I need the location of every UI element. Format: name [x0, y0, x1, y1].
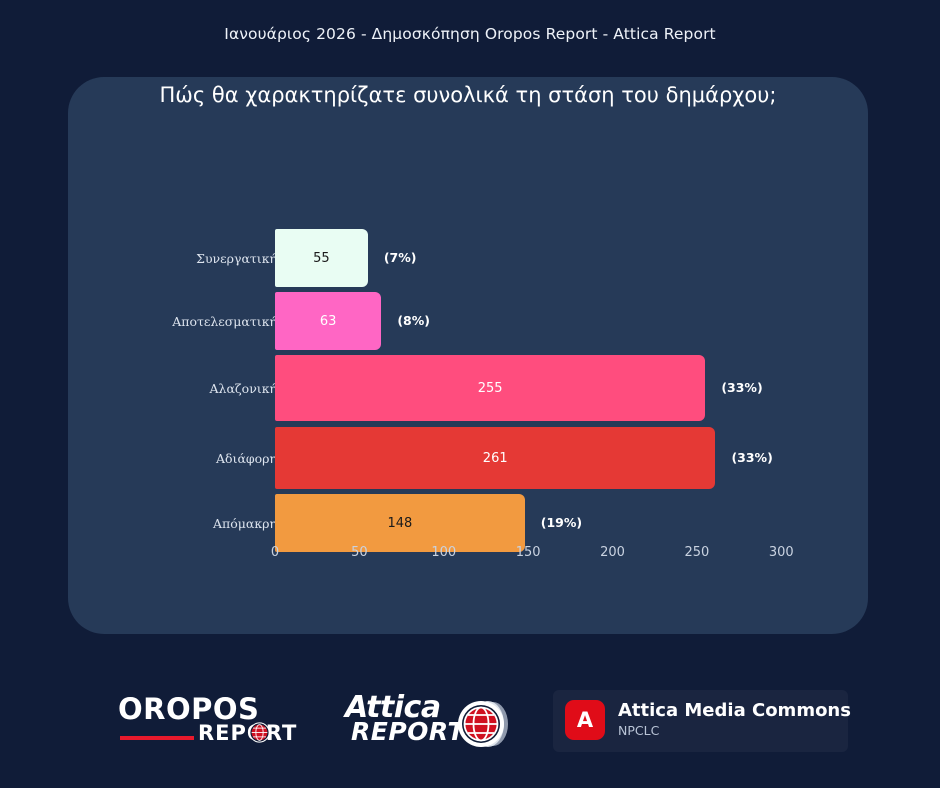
bar-value-label: 63	[320, 314, 337, 329]
footer-logo-bar: OROPOS REPORT Attica REPORT	[0, 672, 940, 782]
bar-percent-label: (19%)	[541, 515, 582, 530]
globe-icon	[457, 700, 509, 748]
x-axis-tick: 300	[769, 545, 794, 560]
amc-title: Attica Media Commons	[618, 700, 851, 721]
bar-value-label: 148	[387, 516, 412, 531]
oropos-report-logo: OROPOS REPORT	[118, 694, 278, 752]
x-axis-tick: 0	[271, 545, 279, 560]
x-axis-tick: 150	[516, 545, 541, 560]
amc-subtitle: NPCLC	[618, 723, 659, 738]
bar-row: Συνεργατική55(7%)	[68, 229, 868, 287]
bar-category-label: Αλαζονική	[210, 381, 278, 396]
x-axis-tick: 200	[600, 545, 625, 560]
bar-row: Απόμακρη148(19%)	[68, 494, 868, 552]
amc-badge-icon: A	[565, 700, 605, 740]
oropos-red-rule	[120, 736, 194, 740]
bar-percent-label: (33%)	[721, 380, 762, 395]
attica-report-logo: Attica REPORT	[345, 692, 520, 754]
bar-percent-label: (8%)	[397, 313, 430, 328]
bar[interactable]: 261	[275, 427, 715, 489]
poll-header-title: Ιανουάριος 2026 - Δημοσκόπηση Oropos Rep…	[224, 25, 715, 43]
x-axis-tick: 50	[351, 545, 368, 560]
globe-icon	[249, 722, 270, 743]
bar-percent-label: (33%)	[731, 450, 772, 465]
bar-percent-label: (7%)	[384, 250, 417, 265]
x-axis: 050100150200250300	[275, 545, 815, 575]
chart-card: Πώς θα χαρακτηρίζατε συνολικά τη στάση τ…	[68, 77, 868, 634]
attica-media-commons-logo: A Attica Media Commons NPCLC	[553, 690, 848, 752]
bar-category-label: Αποτελεσματική	[172, 314, 277, 329]
bar[interactable]: 255	[275, 355, 705, 421]
x-axis-tick: 100	[431, 545, 456, 560]
oropos-wordmark: OROPOS	[118, 694, 259, 724]
bar-value-label: 55	[313, 251, 330, 266]
attica-report-wordmark: REPORT	[351, 719, 465, 745]
bar[interactable]: 55	[275, 229, 368, 287]
bar-category-label: Απόμακρη	[213, 516, 277, 531]
x-axis-tick: 250	[684, 545, 709, 560]
bar-row: Αδιάφορη261(33%)	[68, 427, 868, 489]
bar-row: Αποτελεσματική63(8%)	[68, 292, 868, 350]
bar-value-label: 261	[483, 451, 508, 466]
bar-row: Αλαζονική255(33%)	[68, 355, 868, 421]
bar-category-label: Αδιάφορη	[216, 451, 277, 466]
bar-value-label: 255	[478, 381, 503, 396]
bar[interactable]: 63	[275, 292, 381, 350]
bar-category-label: Συνεργατική	[196, 251, 277, 266]
page-header: Ιανουάριος 2026 - Δημοσκόπηση Oropos Rep…	[0, 0, 940, 68]
bar[interactable]: 148	[275, 494, 525, 552]
oropos-report-wordmark: REPORT	[198, 722, 297, 744]
